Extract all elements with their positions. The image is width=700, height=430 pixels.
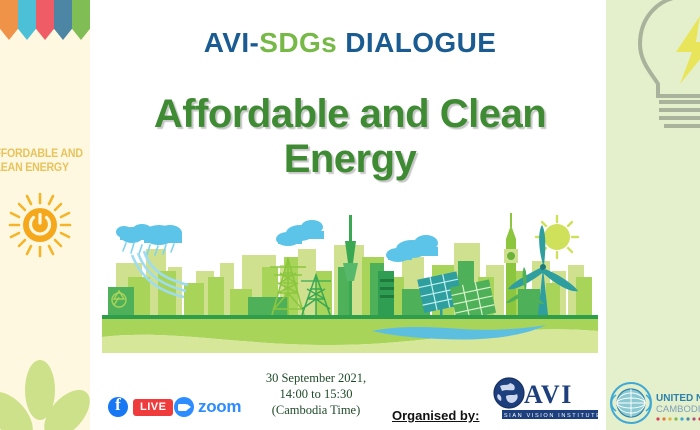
kicker-part-avi: AVI- xyxy=(204,27,260,58)
live-label: LIVE xyxy=(133,399,173,416)
ribbon-green xyxy=(72,0,90,40)
event-series-title: AVI-SDGs DIALOGUE xyxy=(100,27,600,59)
cloud-group-right xyxy=(386,235,438,262)
un-cambodia-logo: UNITED NA CAMBODIA xyxy=(608,381,700,427)
event-timezone: (Cambodia Time) xyxy=(246,402,386,418)
zoom-camera-lens xyxy=(187,404,191,410)
page-title-line1: Affordable and Clean xyxy=(100,92,600,137)
main-content: AVI-SDGs DIALOGUE Affordable and Clean E… xyxy=(90,0,606,430)
skyline-dark-accents xyxy=(378,271,394,315)
zoom-label: zoom xyxy=(198,397,241,417)
avi-acronym: AVI xyxy=(524,380,573,409)
facebook-icon[interactable] xyxy=(108,397,128,417)
bottom-bar: LIVE zoom 30 September 2021, 14:00 to 15… xyxy=(100,368,600,430)
event-time: 14:00 to 15:30 xyxy=(246,386,386,402)
avi-tagline: ASIAN VISION INSTITUTE xyxy=(499,413,600,419)
ribbon-red xyxy=(36,0,54,40)
cloud-group-left xyxy=(116,224,182,245)
ribbon-lightblue xyxy=(18,0,36,40)
avi-logo: AVI ASIAN VISION INSTITUTE xyxy=(492,374,600,424)
ground-line xyxy=(102,315,598,319)
ribbon-teal xyxy=(54,0,72,40)
sdg-goal-label: AFFORDABLE AND CLEAN ENERGY xyxy=(0,148,84,175)
kicker-part-sdgs: SDGs xyxy=(259,27,337,58)
un-logo-line2: CAMBODIA xyxy=(656,404,700,415)
ribbon-strip xyxy=(0,0,90,40)
un-logo-line1: UNITED NA xyxy=(656,393,700,404)
sdg-goal-label-line2: CLEAN ENERGY xyxy=(0,162,84,176)
facebook-live-badge[interactable]: LIVE xyxy=(108,397,173,417)
ribbon-orange xyxy=(0,0,18,40)
cloud-group-mid xyxy=(276,220,324,246)
event-date: 30 September 2021, xyxy=(246,370,386,386)
page-title: Affordable and Clean Energy xyxy=(100,92,600,182)
page-title-line2: Energy xyxy=(100,137,600,182)
poster-canvas: AFFORDABLE AND CLEAN ENERGY xyxy=(0,0,700,430)
kicker-part-dialogue: DIALOGUE xyxy=(337,27,496,58)
lightbulb-icon xyxy=(628,0,700,132)
leaf-sprout-motif xyxy=(0,338,90,430)
sun-power-icon xyxy=(6,192,74,258)
zoom-badge[interactable]: zoom xyxy=(174,397,241,417)
zoom-video-icon[interactable] xyxy=(174,397,194,417)
green-city-skyline xyxy=(102,205,598,353)
organised-by-label: Organised by: xyxy=(392,408,479,423)
event-datetime: 30 September 2021, 14:00 to 15:30 (Cambo… xyxy=(246,370,386,418)
right-sidebar: UNITED NA CAMBODIA xyxy=(606,0,700,430)
left-sidebar: AFFORDABLE AND CLEAN ENERGY xyxy=(0,0,90,430)
sdg-goal-label-line1: AFFORDABLE AND xyxy=(0,148,84,162)
